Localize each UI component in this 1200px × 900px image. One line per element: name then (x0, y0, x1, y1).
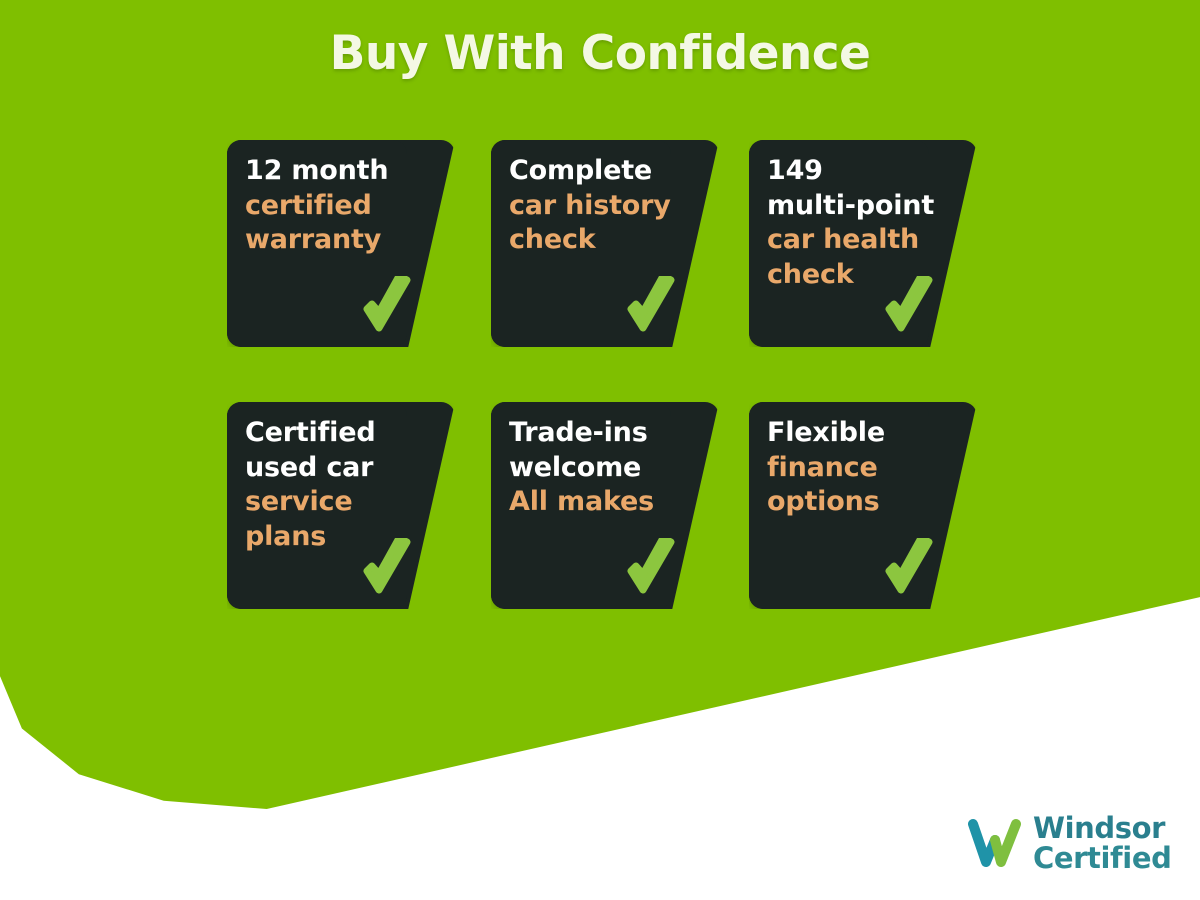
card-line-orange: All makes (509, 485, 705, 520)
benefit-card-grid: 12 month certified warranty Complete car… (227, 140, 987, 610)
card-line-orange: car history (509, 189, 705, 224)
card-line-white: welcome (509, 451, 705, 486)
card-text-block: 12 month certified warranty (245, 154, 441, 258)
card-text-block: Certified used car service plans (245, 416, 441, 554)
benefit-card-service-plans[interactable]: Certified used car service plans (227, 402, 455, 609)
check-tick-icon (363, 538, 411, 600)
benefit-card-car-health-check[interactable]: 149 multi-point car health check (749, 140, 977, 347)
benefit-card-flexible-finance[interactable]: Flexible finance options (749, 402, 977, 609)
card-line-orange: check (509, 223, 705, 258)
card-line-white: Complete (509, 154, 705, 189)
page-title: Buy With Confidence (0, 28, 1200, 80)
card-line-orange: options (767, 485, 963, 520)
card-line-orange: finance (767, 451, 963, 486)
card-line-orange: warranty (245, 223, 441, 258)
windsor-w-icon (968, 818, 1024, 870)
card-line-white: Certified (245, 416, 441, 451)
brand-logo[interactable]: Windsor Certified (968, 808, 1168, 880)
card-line-orange: plans (245, 520, 441, 555)
check-tick-icon (885, 538, 933, 600)
card-text-block: 149 multi-point car health check (767, 154, 963, 292)
check-tick-icon (627, 276, 675, 338)
card-line-white: 12 month (245, 154, 441, 189)
card-text-block: Complete car history check (509, 154, 705, 258)
logo-line-certified: Certified (1033, 844, 1171, 874)
logo-wordmark: Windsor Certified (1033, 814, 1171, 873)
benefit-card-trade-ins-welcome[interactable]: Trade-ins welcome All makes (491, 402, 719, 609)
card-line-white: Trade-ins (509, 416, 705, 451)
card-line-white: Flexible (767, 416, 963, 451)
logo-line-windsor: Windsor (1033, 814, 1171, 844)
card-line-orange: service (245, 485, 441, 520)
card-text-block: Flexible finance options (767, 416, 963, 520)
check-tick-icon (627, 538, 675, 600)
check-tick-icon (363, 276, 411, 338)
card-line-white: used car (245, 451, 441, 486)
benefit-card-car-history-check[interactable]: Complete car history check (491, 140, 719, 347)
benefit-card-certified-warranty[interactable]: 12 month certified warranty (227, 140, 455, 347)
card-line-orange: check (767, 258, 963, 293)
card-line-orange: car health (767, 223, 963, 258)
promo-graphic: Buy With Confidence 12 month certified w… (0, 0, 1200, 900)
card-line-white: 149 (767, 154, 963, 189)
card-text-block: Trade-ins welcome All makes (509, 416, 705, 520)
check-tick-icon (885, 276, 933, 338)
card-line-orange: certified (245, 189, 441, 224)
card-line-white: multi-point (767, 189, 963, 224)
